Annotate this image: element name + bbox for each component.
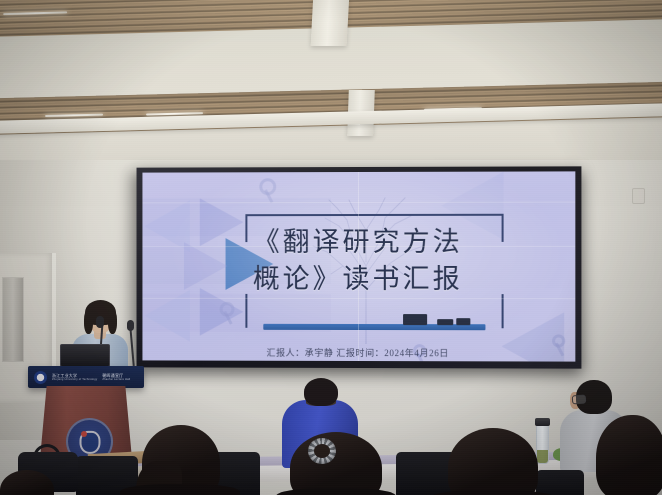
university-seal-icon [34, 371, 47, 384]
title-frame-left-lower [245, 294, 246, 328]
title-frame-right-lower [502, 294, 504, 328]
ceiling-beam-vertical [311, 0, 350, 46]
foreground-audience-head [596, 415, 662, 495]
water-bottle-contents [537, 450, 548, 463]
screen-panel-seam [358, 172, 359, 361]
presentation-slide[interactable]: 《翻译研究方法 概论》读书汇报 汇报人：承宇静 汇报时间：2024年4月26日 [142, 171, 575, 361]
podium-venue-name-cn: 朝晖通宣厅 [102, 373, 123, 378]
slide-title-line-1: 《翻译研究方法 [142, 224, 575, 262]
water-bottle-cap [535, 418, 550, 426]
microphone-icon [96, 316, 104, 328]
microphone-icon [127, 320, 134, 331]
foreground-audience-shoulder [120, 484, 240, 495]
podium-venue-name: 朝晖通宣厅 Zhaohui Lecture Hall [102, 373, 130, 382]
eyeglasses-icon [572, 395, 587, 405]
podium-venue-name-en: Zhaohui Lecture Hall [102, 378, 130, 382]
podium-banner: 浙江工业大学 Zhejiang University of Technology… [28, 366, 144, 388]
projection-screen-bezel: 《翻译研究方法 概论》读书汇报 汇报人：承宇静 汇报时间：2024年4月26日 [137, 166, 582, 368]
slide-subtitle: 汇报人：承宇静 汇报时间：2024年4月26日 [142, 345, 575, 359]
wall-outlet [632, 188, 645, 204]
laptop-screen [60, 344, 110, 367]
ceiling [0, 0, 662, 168]
chair-back [396, 452, 456, 495]
foreground-audience-shoulder [276, 488, 396, 495]
presenter-hair [84, 310, 93, 334]
slide-title-block: 《翻译研究方法 概论》读书汇报 [142, 224, 575, 299]
slide-book-shape [403, 314, 427, 325]
podium-org-name: 浙江工业大学 Zhejiang University of Technology [52, 373, 97, 382]
emblem-accent-dot [81, 431, 87, 437]
presenter-hair [108, 310, 117, 334]
slide-title-line-2: 概论》读书汇报 [142, 261, 575, 298]
podium-org-name-en: Zhejiang University of Technology [52, 378, 97, 382]
podium-org-name-cn: 浙江工业大学 [52, 373, 77, 378]
ceiling-light-strip [2, 12, 66, 16]
foreground-audience-head [290, 432, 382, 495]
classroom-presentation-photo: 《翻译研究方法 概论》读书汇报 汇报人：承宇静 汇报时间：2024年4月26日 [0, 0, 662, 495]
wall-panel [2, 277, 24, 362]
ceiling-light-strip [45, 114, 102, 117]
slide-book-shape [437, 319, 453, 325]
chair-back [536, 470, 584, 495]
slide-book-shape [456, 318, 470, 325]
audience-member-head [304, 378, 338, 406]
hair-clip [308, 438, 336, 464]
